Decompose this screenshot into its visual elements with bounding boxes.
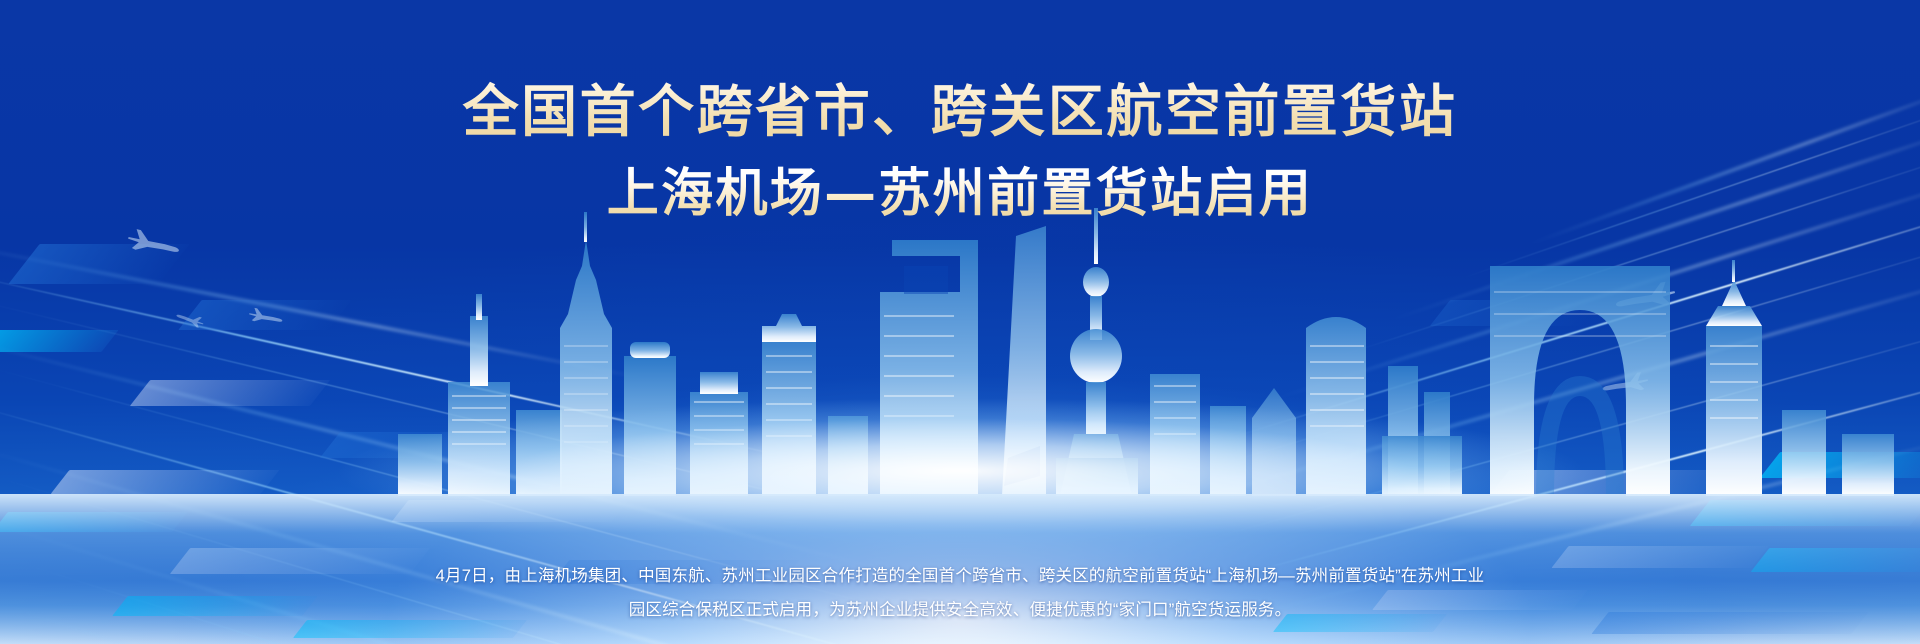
airplane-icon: [174, 309, 206, 330]
city-skyline-graphic: [0, 196, 1920, 496]
caption-line-1: 4月7日，由上海机场集团、中国东航、苏州工业园区合作打造的全国首个跨省市、跨关区…: [0, 560, 1920, 594]
promotional-banner: 全国首个跨省市、跨关区航空前置货站 上海机场—苏州前置货站启用 4月7日，由上海…: [0, 0, 1920, 644]
airplane-icon: [246, 303, 285, 329]
horizon-glow: [0, 388, 1920, 548]
banner-title-block: 全国首个跨省市、跨关区航空前置货站 上海机场—苏州前置货站启用: [0, 0, 1920, 220]
caption-line-2: 园区综合保税区正式启用，为苏州企业提供安全高效、便捷优惠的“家门口”航空货运服务…: [0, 594, 1920, 628]
banner-caption: 4月7日，由上海机场集团、中国东航、苏州工业园区合作打造的全国首个跨省市、跨关区…: [0, 560, 1920, 628]
airplane-icon: [123, 222, 184, 264]
page-title-line-2: 上海机场—苏州前置货站启用: [0, 140, 1920, 220]
airplane-icon: [1598, 366, 1652, 401]
airplane-icon: [1609, 273, 1681, 320]
page-title-line-1: 全国首个跨省市、跨关区航空前置货站: [0, 0, 1920, 140]
